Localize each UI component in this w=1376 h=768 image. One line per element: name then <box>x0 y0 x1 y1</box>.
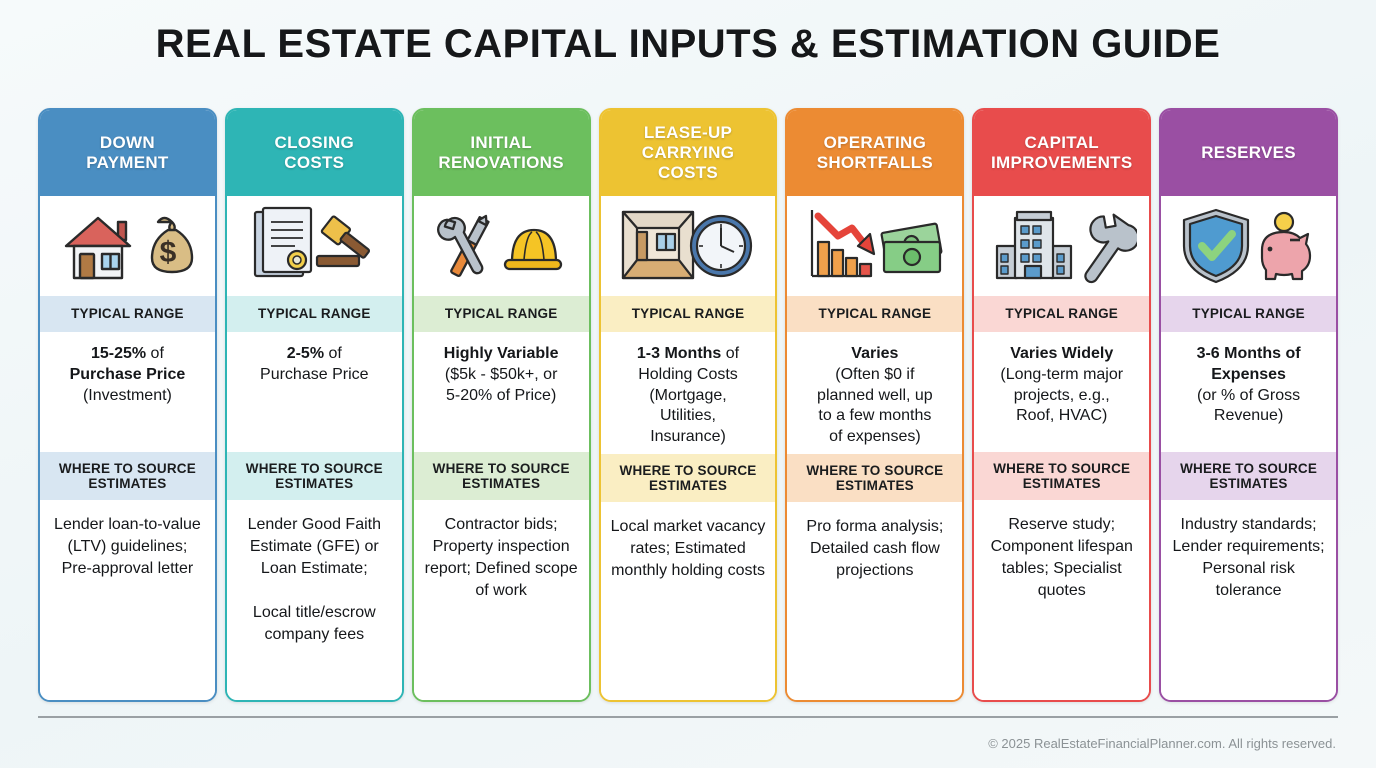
where-to-source-label: WHERE TO SOURCE ESTIMATES <box>246 461 383 491</box>
card-title: CAPITAL IMPROVEMENTS <box>991 133 1133 172</box>
where-to-source-value: Lender Good Faith Estimate (GFE) or Loan… <box>235 514 394 646</box>
tools-and-hardhat-icon <box>414 196 589 296</box>
house-and-money-bag-icon: $ <box>40 196 215 296</box>
card-header: RESERVES <box>1161 110 1336 196</box>
card-title: LEASE-UP CARRYING COSTS <box>642 123 734 182</box>
typical-range-label: TYPICAL RANGE <box>1192 306 1305 321</box>
where-to-source-value: Contractor bids; Property inspection rep… <box>422 514 581 602</box>
capital-input-card: DOWN PAYMENT $ TYPICAL RANGE 15-25% ofPu… <box>38 108 217 702</box>
capital-input-card: OPERATING SHORTFALLS TYPICAL RANGE <box>785 108 964 702</box>
capital-input-card: RESERVES TYPICAL RANGE 3-6 Months ofExpe… <box>1159 108 1338 702</box>
where-to-source-band: WHERE TO SOURCE ESTIMATES <box>787 454 962 502</box>
where-to-source-label: WHERE TO SOURCE ESTIMATES <box>59 461 196 491</box>
typical-range-body: 15-25% ofPurchase Price(Investment) <box>40 332 215 452</box>
typical-range-body: 3-6 Months ofExpenses(or % of GrossReven… <box>1161 332 1336 452</box>
shield-and-piggy-bank-icon <box>1161 196 1336 296</box>
where-to-source-band: WHERE TO SOURCE ESTIMATES <box>1161 452 1336 500</box>
card-header: OPERATING SHORTFALLS <box>787 110 962 196</box>
typical-range-band: TYPICAL RANGE <box>601 296 776 332</box>
card-header: LEASE-UP CARRYING COSTS <box>601 110 776 196</box>
card-row: DOWN PAYMENT $ TYPICAL RANGE 15-25% ofPu… <box>38 108 1338 702</box>
capital-input-card: CLOSING COSTS TYPICAL RANGE <box>225 108 404 702</box>
card-title: CLOSING COSTS <box>275 133 355 172</box>
where-to-source-band: WHERE TO SOURCE ESTIMATES <box>601 454 776 502</box>
typical-range-value: Varies(Often $0 ifplanned well, upto a f… <box>817 344 933 448</box>
where-to-source-band: WHERE TO SOURCE ESTIMATES <box>414 452 589 500</box>
where-to-source-body: Local market vacancy rates; Estimated mo… <box>601 502 776 702</box>
typical-range-value: 1-3 Months ofHolding Costs(Mortgage,Util… <box>637 344 739 448</box>
typical-range-value: 2-5% ofPurchase Price <box>260 344 369 386</box>
where-to-source-label: WHERE TO SOURCE ESTIMATES <box>433 461 570 491</box>
where-to-source-body: Industry standards; Lender requirements;… <box>1161 500 1336 700</box>
svg-text:$: $ <box>160 236 177 269</box>
where-to-source-value: Pro forma analysis; Detailed cash flow p… <box>795 516 954 582</box>
where-to-source-body: Lender Good Faith Estimate (GFE) or Loan… <box>227 500 402 700</box>
where-to-source-band: WHERE TO SOURCE ESTIMATES <box>974 452 1149 500</box>
typical-range-body: Highly Variable($5k - $50k+, or5-20% of … <box>414 332 589 452</box>
typical-range-band: TYPICAL RANGE <box>227 296 402 332</box>
where-to-source-value: Local market vacancy rates; Estimated mo… <box>609 516 768 582</box>
page-title: REAL ESTATE CAPITAL INPUTS & ESTIMATION … <box>0 22 1376 67</box>
typical-range-value: 3-6 Months ofExpenses(or % of GrossReven… <box>1197 344 1301 427</box>
where-to-source-body: Lender loan-to-value (LTV) guidelines; P… <box>40 500 215 700</box>
typical-range-value: 15-25% ofPurchase Price(Investment) <box>70 344 186 406</box>
declining-chart-and-cash-icon <box>787 196 962 296</box>
document-and-gavel-icon <box>227 196 402 296</box>
typical-range-body: Varies Widely(Long-term majorprojects, e… <box>974 332 1149 452</box>
typical-range-label: TYPICAL RANGE <box>445 306 558 321</box>
where-to-source-value: Lender loan-to-value (LTV) guidelines; P… <box>48 514 207 580</box>
footer-copyright: © 2025 RealEstateFinancialPlanner.com. A… <box>988 736 1336 751</box>
where-to-source-body: Contractor bids; Property inspection rep… <box>414 500 589 700</box>
typical-range-body: 1-3 Months ofHolding Costs(Mortgage,Util… <box>601 332 776 454</box>
where-to-source-body: Pro forma analysis; Detailed cash flow p… <box>787 502 962 702</box>
typical-range-body: Varies(Often $0 ifplanned well, upto a f… <box>787 332 962 454</box>
typical-range-label: TYPICAL RANGE <box>632 306 745 321</box>
typical-range-label: TYPICAL RANGE <box>258 306 371 321</box>
card-title: INITIAL RENOVATIONS <box>438 133 563 172</box>
typical-range-label: TYPICAL RANGE <box>1005 306 1118 321</box>
card-header: INITIAL RENOVATIONS <box>414 110 589 196</box>
page-title-wrap: REAL ESTATE CAPITAL INPUTS & ESTIMATION … <box>0 22 1376 67</box>
typical-range-value: Highly Variable($5k - $50k+, or5-20% of … <box>444 344 559 406</box>
typical-range-body: 2-5% ofPurchase Price <box>227 332 402 452</box>
capital-input-card: CAPITAL IMPROVEMENTS <box>972 108 1151 702</box>
typical-range-band: TYPICAL RANGE <box>787 296 962 332</box>
card-title: RESERVES <box>1201 143 1296 163</box>
typical-range-band: TYPICAL RANGE <box>414 296 589 332</box>
where-to-source-body: Reserve study; Component lifespan tables… <box>974 500 1149 700</box>
typical-range-band: TYPICAL RANGE <box>40 296 215 332</box>
typical-range-value: Varies Widely(Long-term majorprojects, e… <box>1000 344 1123 427</box>
where-to-source-band: WHERE TO SOURCE ESTIMATES <box>40 452 215 500</box>
card-header: CAPITAL IMPROVEMENTS <box>974 110 1149 196</box>
where-to-source-value: Reserve study; Component lifespan tables… <box>982 514 1141 602</box>
card-header: CLOSING COSTS <box>227 110 402 196</box>
where-to-source-label: WHERE TO SOURCE ESTIMATES <box>1180 461 1317 491</box>
typical-range-label: TYPICAL RANGE <box>819 306 932 321</box>
where-to-source-label: WHERE TO SOURCE ESTIMATES <box>806 463 943 493</box>
typical-range-band: TYPICAL RANGE <box>974 296 1149 332</box>
card-title: OPERATING SHORTFALLS <box>817 133 933 172</box>
empty-room-and-clock-icon <box>601 196 776 296</box>
infographic-page: REAL ESTATE CAPITAL INPUTS & ESTIMATION … <box>0 0 1376 768</box>
where-to-source-label: WHERE TO SOURCE ESTIMATES <box>620 463 757 493</box>
card-title: DOWN PAYMENT <box>86 133 168 172</box>
typical-range-band: TYPICAL RANGE <box>1161 296 1336 332</box>
footer-divider <box>38 716 1338 718</box>
typical-range-label: TYPICAL RANGE <box>71 306 184 321</box>
card-header: DOWN PAYMENT <box>40 110 215 196</box>
where-to-source-band: WHERE TO SOURCE ESTIMATES <box>227 452 402 500</box>
where-to-source-label: WHERE TO SOURCE ESTIMATES <box>993 461 1130 491</box>
capital-input-card: INITIAL RENOVATIONS TYPICAL <box>412 108 591 702</box>
building-and-wrench-icon <box>974 196 1149 296</box>
where-to-source-value: Industry standards; Lender requirements;… <box>1169 514 1328 602</box>
capital-input-card: LEASE-UP CARRYING COSTS <box>599 108 778 702</box>
